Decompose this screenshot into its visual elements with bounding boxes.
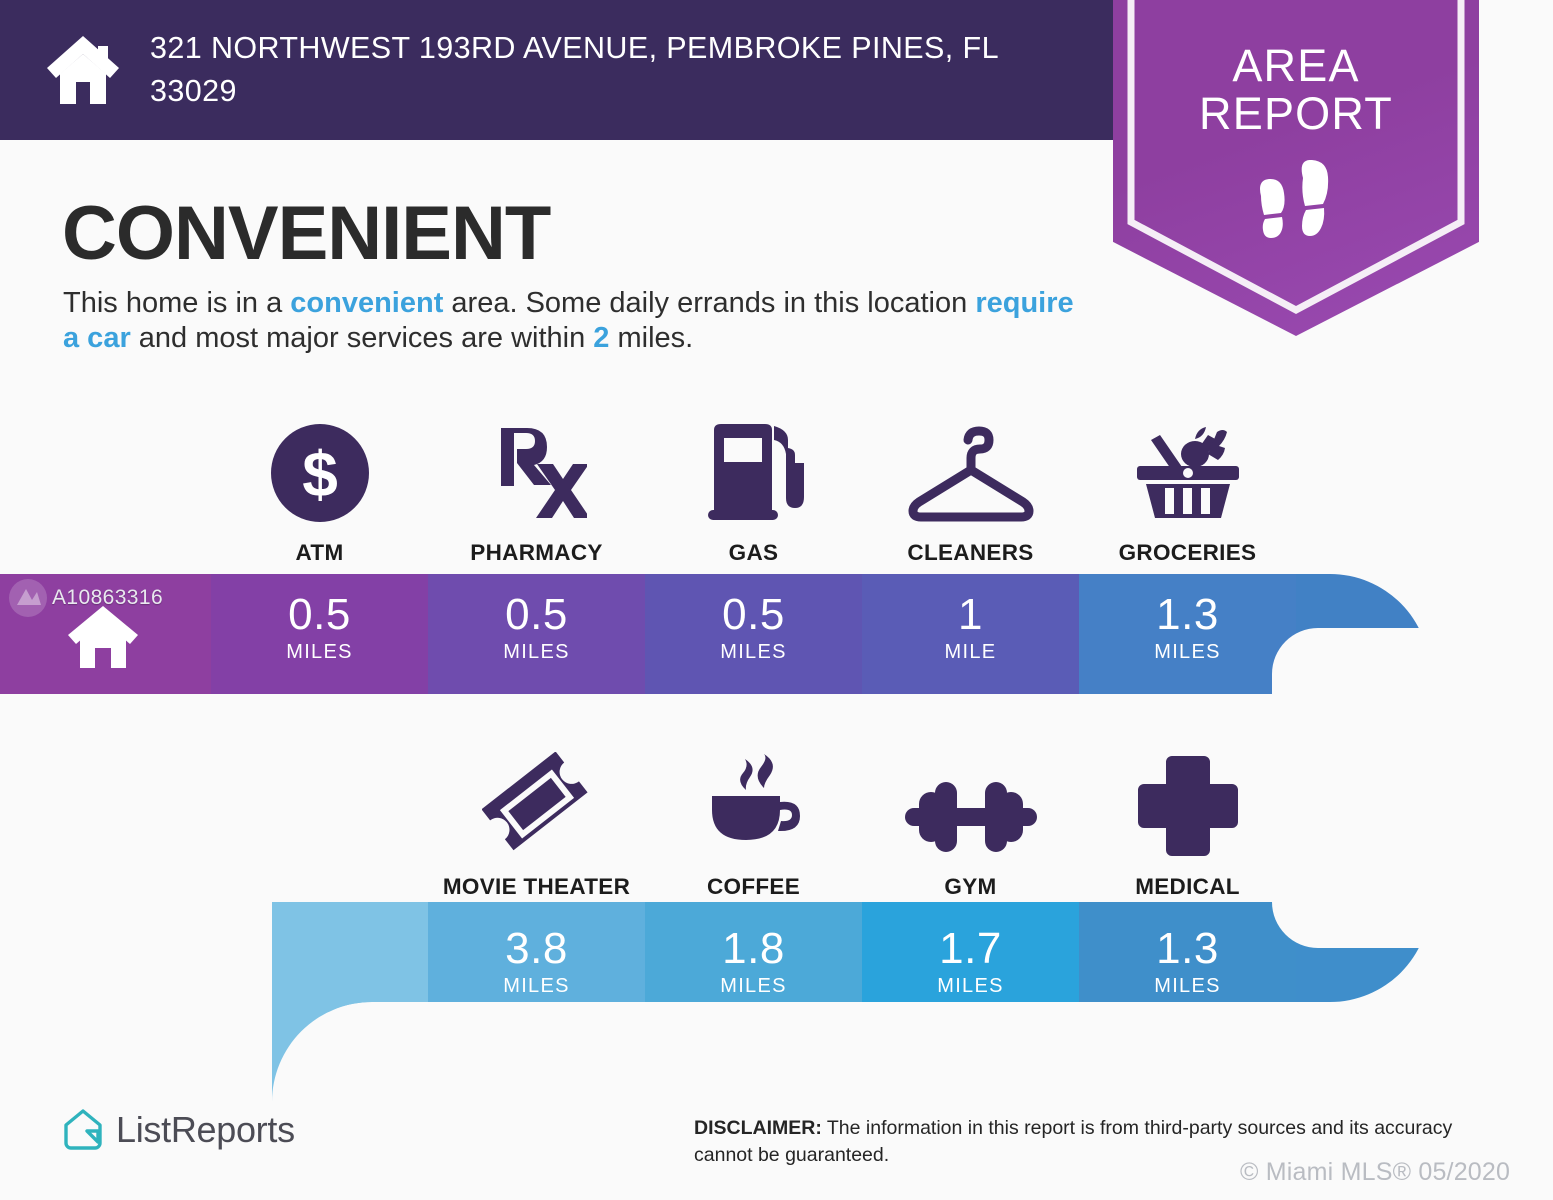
amenity-medical: MEDICAL [1079, 752, 1296, 900]
gas-pump-icon [704, 418, 804, 522]
amenity-label: COFFEE [707, 874, 800, 900]
distance-value: 1.8 [645, 926, 862, 973]
amenity-pharmacy: PHARMACY [428, 418, 645, 566]
listreports-house-icon [62, 1108, 104, 1152]
amenity-label: CLEANERS [907, 540, 1033, 566]
distance-unit: MILES [1079, 975, 1296, 998]
summary-p4: miles. [609, 322, 693, 354]
distance-gas: 0.5 MILES [645, 592, 862, 664]
distance-value: 1.7 [862, 926, 1079, 973]
amenity-atm: $ ATM [211, 418, 428, 566]
grocery-basket-icon [1133, 418, 1243, 522]
distance-movie-theater: 3.8 MILES [428, 926, 645, 998]
summary-highlight-miles: 2 [593, 322, 609, 354]
prescription-rx-icon [487, 418, 587, 522]
distance-unit: MILES [645, 641, 862, 664]
summary-p3: and most major services are within [131, 322, 594, 354]
mls-copyright: © Miami MLS® 05/2020 [1240, 1158, 1510, 1187]
distance-atm: 0.5 MILES [211, 592, 428, 664]
summary-p2: area. Some daily errands in this locatio… [443, 287, 975, 319]
property-address: 321 NORTHWEST 193RD AVENUE, PEMBROKE PIN… [150, 27, 1050, 114]
distance-cleaners: 1 MILE [862, 592, 1079, 664]
amenity-label: GYM [944, 874, 996, 900]
amenity-label: MEDICAL [1135, 874, 1240, 900]
page-title: CONVENIENT [62, 190, 550, 277]
listreports-wordmark: ListReports [116, 1109, 295, 1151]
amenity-cleaners: CLEANERS [862, 418, 1079, 566]
medical-cross-icon [1138, 752, 1238, 856]
coffee-cup-icon [702, 752, 806, 856]
footprints-icon [1251, 160, 1343, 256]
distance-unit: MILE [862, 641, 1079, 664]
distance-unit: MILES [645, 975, 862, 998]
amenity-coffee: COFFEE [645, 752, 862, 900]
amenity-label: PHARMACY [470, 540, 602, 566]
distance-value: 0.5 [428, 592, 645, 639]
amenity-groceries: GROCERIES [1079, 418, 1296, 566]
svg-text:$: $ [302, 438, 338, 510]
distance-value: 1 [862, 592, 1079, 639]
house-icon [44, 34, 122, 106]
distance-groceries: 1.3 MILES [1079, 592, 1296, 664]
movie-ticket-icon [482, 752, 592, 856]
clothes-hanger-icon [905, 418, 1037, 522]
distance-medical: 1.3 MILES [1079, 926, 1296, 998]
dollar-circle-icon: $ [271, 418, 369, 522]
summary-p1: This home is in a [63, 287, 290, 319]
distance-pharmacy: 0.5 MILES [428, 592, 645, 664]
distance-labels-row-2: 3.8 MILES 1.8 MILES 1.7 MILES 1.3 MILES [428, 926, 1400, 998]
distance-value: 0.5 [211, 592, 428, 639]
mls-watermark-icon [8, 578, 48, 618]
bar-segment-tail [272, 902, 428, 1012]
amenity-label: GAS [729, 540, 779, 566]
distance-value: 0.5 [645, 592, 862, 639]
distance-coffee: 1.8 MILES [645, 926, 862, 998]
amenity-label: GROCERIES [1119, 540, 1257, 566]
amenity-movie-theater: MOVIE THEATER [428, 752, 645, 900]
badge-title: AREA REPORT [1113, 42, 1479, 137]
amenity-gas: GAS [645, 418, 862, 566]
amenity-gym: GYM [862, 752, 1079, 900]
amenity-label: ATM [296, 540, 344, 566]
area-report-page: 321 NORTHWEST 193RD AVENUE, PEMBROKE PIN… [0, 0, 1553, 1200]
bar-inner-notch-left [372, 1012, 700, 1128]
distance-unit: MILES [1079, 641, 1296, 664]
amenity-icon-row-bottom: MOVIE THEATER COFFEE [428, 752, 1400, 900]
amenity-label: MOVIE THEATER [443, 874, 630, 900]
summary-highlight-convenient: convenient [290, 287, 443, 319]
distance-value: 1.3 [1079, 592, 1296, 639]
distance-gym: 1.7 MILES [862, 926, 1079, 998]
distance-labels-row-1: 0.5 MILES 0.5 MILES 0.5 MILES 1 MILE 1.3… [211, 592, 1399, 664]
mls-listing-id: A10863316 [52, 586, 163, 610]
amenity-icon-row-top: $ ATM PHARMACY [211, 418, 1399, 566]
badge-line-2: REPORT [1113, 90, 1479, 138]
distance-unit: MILES [211, 641, 428, 664]
distance-value: 1.3 [1079, 926, 1296, 973]
distance-unit: MILES [428, 641, 645, 664]
summary-text: This home is in a convenient area. Some … [63, 286, 1093, 356]
mls-watermark: A10863316 [8, 578, 163, 618]
listreports-logo[interactable]: ListReports [62, 1108, 295, 1152]
distance-value: 3.8 [428, 926, 645, 973]
disclaimer-label: DISCLAIMER: [694, 1117, 822, 1139]
distance-unit: MILES [428, 975, 645, 998]
badge-line-1: AREA [1113, 42, 1479, 90]
distance-unit: MILES [862, 975, 1079, 998]
header-bar: 321 NORTHWEST 193RD AVENUE, PEMBROKE PIN… [0, 0, 1113, 140]
dumbbell-icon [905, 752, 1037, 856]
